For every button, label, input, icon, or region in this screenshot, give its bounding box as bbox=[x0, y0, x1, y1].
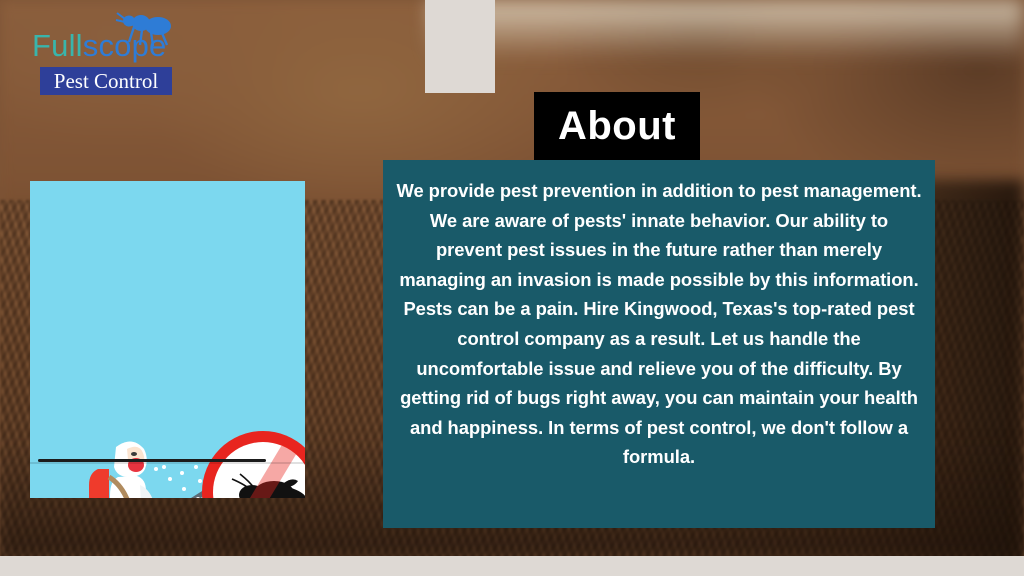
about-card: We provide pest prevention in addition t… bbox=[383, 160, 935, 528]
page-title: About bbox=[534, 92, 700, 160]
logo-word-first: Full bbox=[32, 28, 83, 63]
no-pests-sign-icon bbox=[202, 431, 305, 498]
logo-wordmark: Fullscope bbox=[32, 30, 180, 61]
illustration-panel bbox=[30, 181, 305, 498]
bottom-beige-bar bbox=[0, 556, 1024, 576]
illustration-ground-shadow bbox=[30, 462, 305, 464]
brand-logo[interactable]: Fullscope Pest Control bbox=[32, 12, 180, 90]
background-haze bbox=[430, 0, 1024, 60]
logo-word-second: scope bbox=[83, 28, 167, 63]
page-title-box: About bbox=[534, 92, 700, 160]
slide-canvas: Fullscope Pest Control bbox=[0, 0, 1024, 576]
logo-tagline: Pest Control bbox=[40, 67, 172, 95]
logo-tagline-bar: Pest Control bbox=[40, 67, 172, 95]
about-paragraph: We provide pest prevention in addition t… bbox=[383, 160, 935, 472]
decorative-beige-plate bbox=[425, 0, 495, 93]
